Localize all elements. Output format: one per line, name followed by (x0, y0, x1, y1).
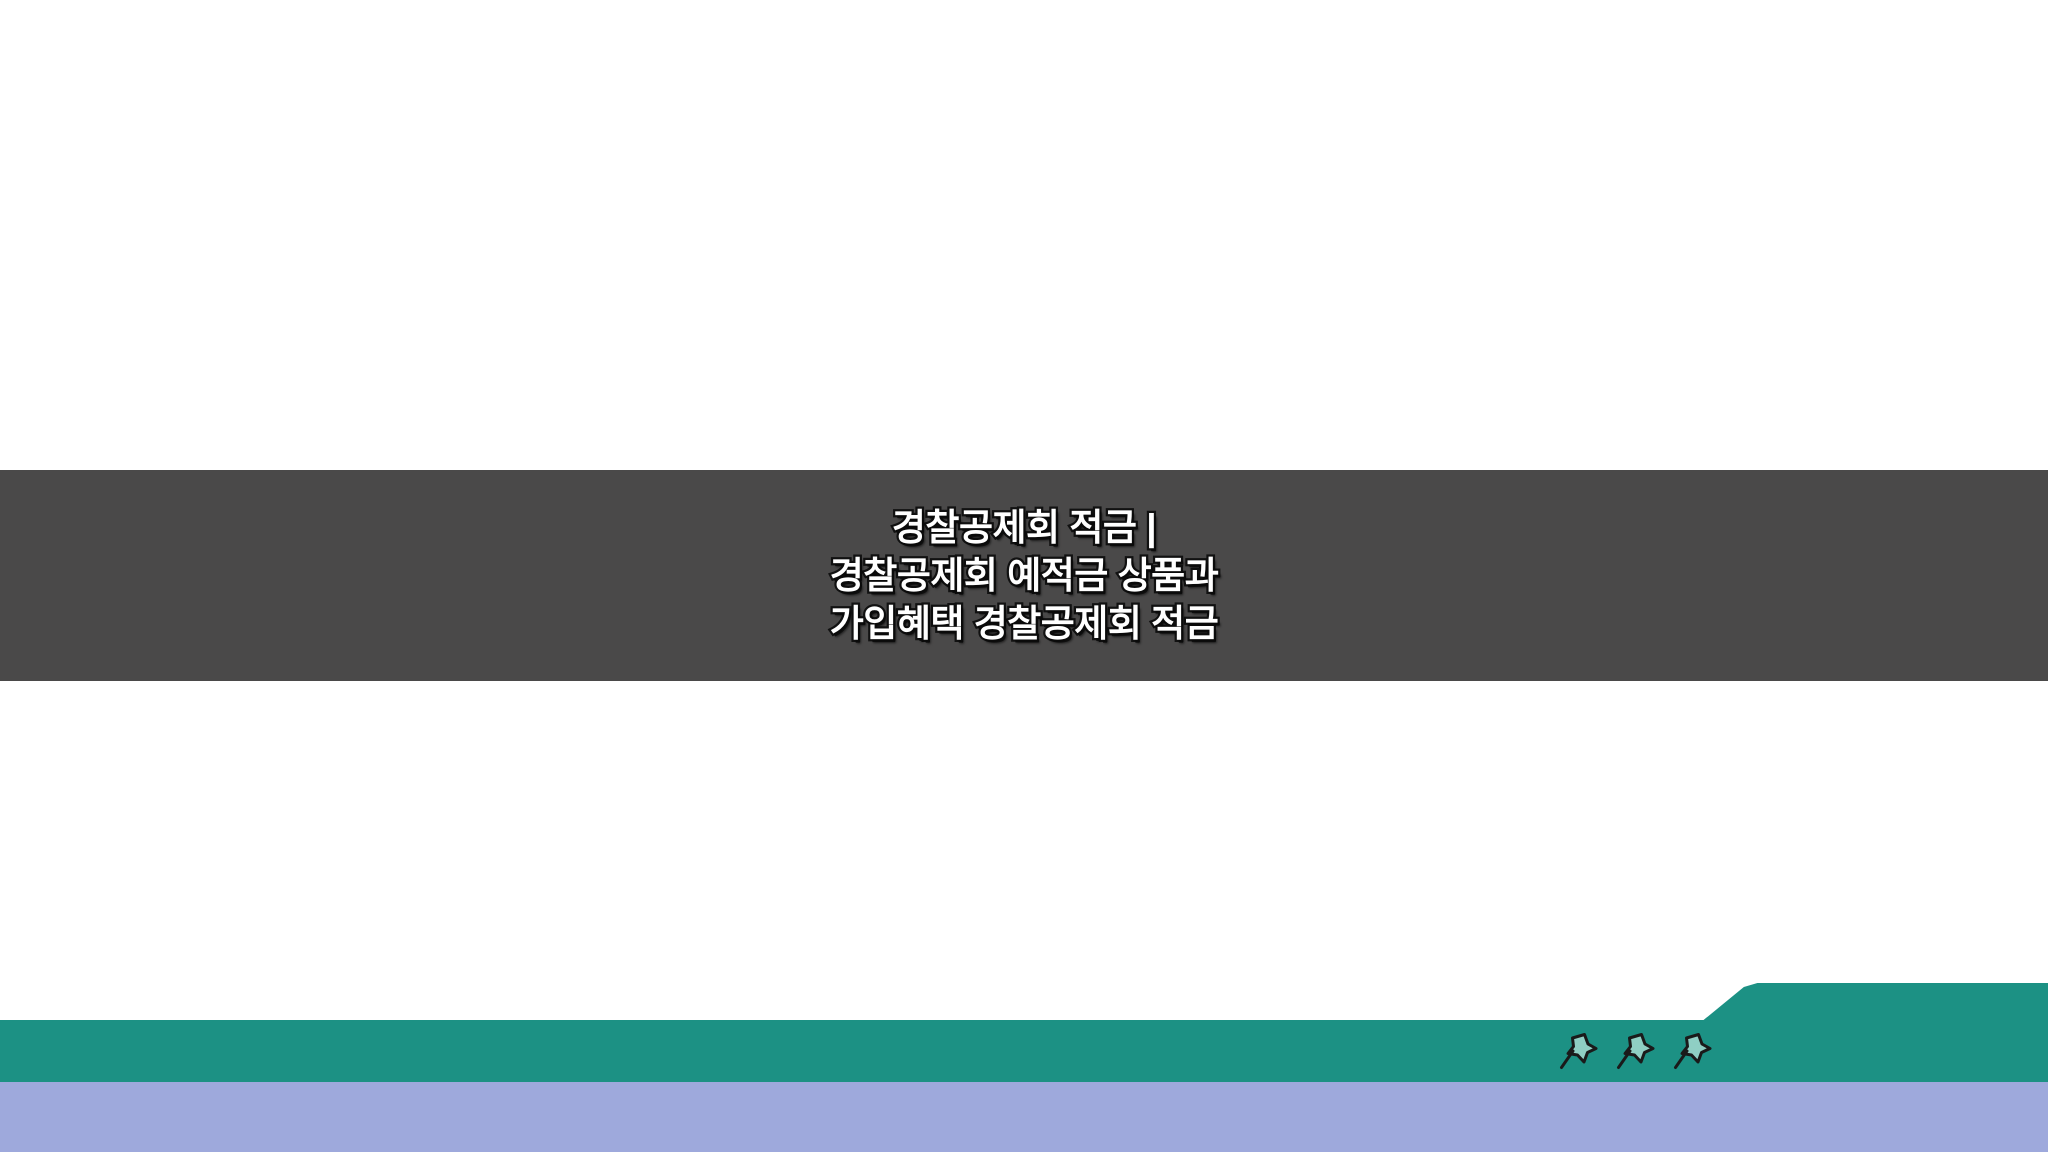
title-line-1: 경찰공제회 적금 | (892, 504, 1156, 552)
sparkle-icon-2 (1615, 1030, 1655, 1074)
sparkle-icon-3 (1672, 1030, 1712, 1074)
footer-purple-band (0, 1082, 2048, 1152)
footer-teal-step (1700, 983, 2048, 1023)
sparkle-icon-1 (1558, 1030, 1598, 1074)
page-canvas: 경찰공제회 적금 | 경찰공제회 예적금 상품과 가입혜택 경찰공제회 적금 (0, 0, 2048, 1152)
title-line-3: 가입혜택 경찰공제회 적금 (830, 600, 1219, 648)
content-area-top (0, 0, 2048, 470)
content-area-middle (0, 681, 2048, 983)
footer-teal-band (0, 1020, 2048, 1082)
title-line-2: 경찰공제회 예적금 상품과 (830, 552, 1219, 600)
title-banner: 경찰공제회 적금 | 경찰공제회 예적금 상품과 가입혜택 경찰공제회 적금 (0, 470, 2048, 681)
